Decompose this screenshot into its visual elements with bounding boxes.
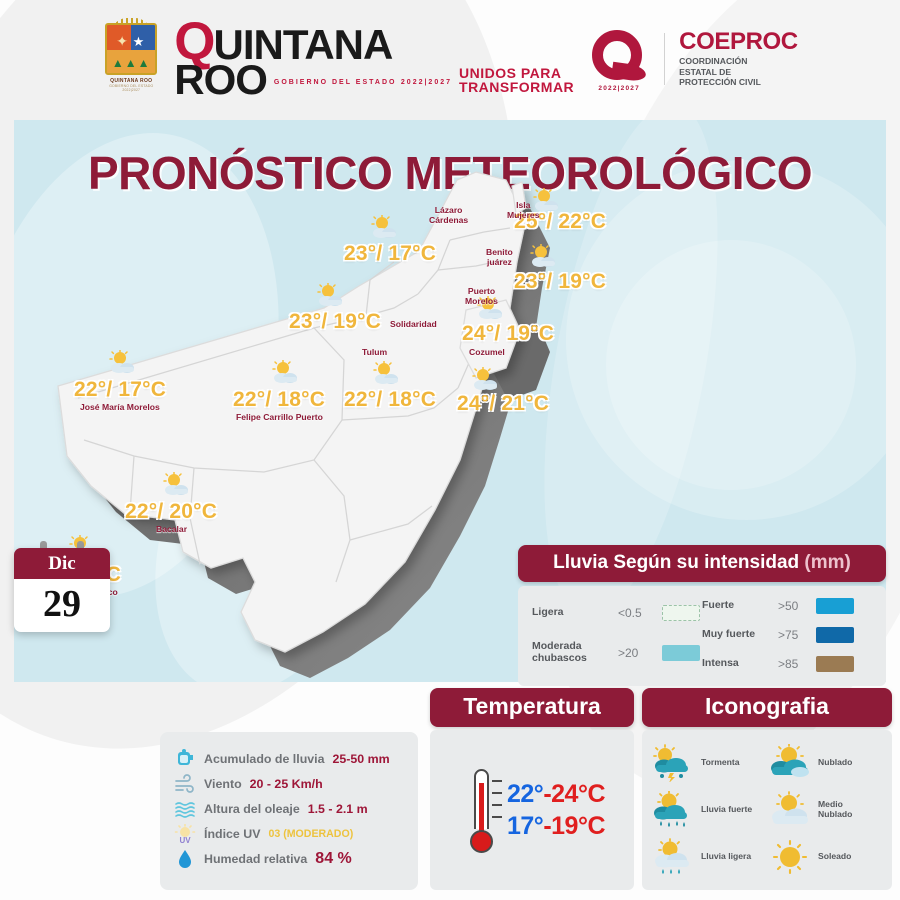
header-divider: [664, 33, 665, 85]
temp-benito-juarez: 23°/ 19°C: [514, 270, 606, 294]
waves-icon: [174, 799, 196, 819]
coeproc-sub-line3: PROTECCIÓN CIVIL: [679, 77, 761, 87]
city-label-tulum: Tulum: [362, 348, 387, 358]
temperatura-title: Temperatura: [430, 688, 634, 727]
weather-icon-medio-nublado: [469, 367, 503, 391]
city-label-benito-juarez: Benitojuárez: [486, 248, 513, 267]
temp-cozumel: 24°/ 21°C: [457, 392, 549, 416]
stat-label-viento: Viento: [204, 777, 242, 791]
coeproc-text-block: COEPROC COORDINACIÓN ESTATAL DE PROTECCI…: [679, 30, 798, 88]
iconografia-item-tormenta: Tormenta: [650, 744, 767, 782]
lluvia-ligera-icon: [650, 838, 696, 876]
iconografia-label-tormenta: Tormenta: [701, 758, 740, 768]
temperatura-min-low: 17°: [507, 812, 543, 840]
rain-value-intensa: >85: [778, 657, 816, 671]
soleado-icon: [767, 838, 813, 876]
coeproc-sub-line2: ESTATAL DE: [679, 67, 731, 77]
rain-value-muy-fuerte: >75: [778, 628, 816, 642]
brand-slogan-line2: TRANSFORMAR: [459, 79, 574, 95]
rain-value-ligera: <0.5: [618, 606, 662, 620]
uv-sun-icon: UV: [174, 824, 196, 844]
iconografia-label-nublado: Nublado: [818, 758, 852, 768]
weather-icon-medio-nublado: [160, 472, 194, 496]
stat-value-humedad: 84 %: [315, 850, 351, 868]
brand-years: 2022|2027: [401, 79, 452, 86]
date-calendar: Dic 29: [14, 548, 110, 632]
temp-lazaro-cardenas: 23°/ 17°C: [344, 242, 436, 266]
rain-value-fuerte: >50: [778, 599, 816, 613]
weather-icon-medio-nublado: [370, 361, 404, 385]
city-label-solidaridad: Solidaridad: [390, 320, 437, 330]
stat-label-oleaje: Altura del oleaje: [204, 802, 300, 816]
rain-label-fuerte: Fuerte: [702, 600, 778, 612]
city-label-lazaro-cardenas: LázaroCárdenas: [429, 206, 468, 225]
temperatura-min-high: 19°C: [551, 812, 605, 840]
rain-legend-row: Fuerte >50: [702, 598, 872, 614]
rain-swatch-intensa: [816, 656, 854, 672]
rain-label-ligera: Ligera: [532, 607, 618, 619]
temp-felipe-carrillo-puerto: 22°/ 18°C: [233, 388, 325, 412]
rain-label-moderada: Moderadachubascos: [532, 641, 618, 665]
medio-nublado-icon: [767, 791, 813, 829]
coeproc-mark-years: 2022|2027: [588, 85, 650, 92]
city-label-puerto-morelos: PuertoMorelos: [465, 287, 498, 306]
rain-legend-row: Ligera <0.5: [532, 605, 702, 621]
stat-label-acumulado: Acumulado de lluvia: [204, 752, 325, 766]
city-label-isla-mujeres: IslaMujeres: [507, 201, 539, 220]
temperatura-max-low: 22°: [507, 780, 543, 808]
quintana-roo-wordmark: Q UINTANA ROO GOBIERNO DEL ESTADO 2022|2…: [174, 19, 574, 99]
rain-legend-unit: (mm): [804, 552, 850, 573]
quintana-roo-coat-of-arms-icon: ✦ ★ ▲▲▲ QUINTANA ROO GOBIERNO DEL ESTADO…: [102, 23, 160, 95]
water-drop-icon: [174, 849, 196, 869]
stat-row-viento: Viento 20 - 25 Km/h: [174, 771, 408, 796]
rain-legend-row: Moderadachubascos >20: [532, 641, 702, 665]
rain-value-moderada: >20: [618, 646, 662, 660]
temp-tulum: 22°/ 18°C: [344, 388, 436, 412]
rain-legend-header: Lluvia Según su intensidad (mm): [518, 545, 886, 582]
iconografia-item-lluvia-fuerte: Lluvia fuerte: [650, 791, 767, 829]
weather-icon-medio-nublado: [269, 360, 303, 384]
iconografia-label-soleado: Soleado: [818, 852, 851, 862]
rain-swatch-ligera: [662, 605, 700, 621]
tormenta-icon: [650, 744, 696, 782]
rain-gauge-icon: [174, 749, 196, 769]
temperatura-max-high: 24°C: [551, 780, 605, 808]
coeproc-sub-line1: COORDINACIÓN: [679, 56, 747, 66]
lluvia-fuerte-icon: [650, 791, 696, 829]
wind-icon: [174, 774, 196, 794]
temperatura-min-sep: -: [543, 812, 551, 840]
coat-of-arms-sublabel: GOBIERNO DEL ESTADO 2022|2027: [102, 84, 160, 92]
city-label-bacalar: Bacalar: [156, 525, 187, 535]
thermometer-icon: [465, 767, 499, 853]
temperatura-min-row: 17°-19°C: [507, 810, 605, 842]
temperatura-max-row: 22°-24°C: [507, 778, 605, 810]
iconografia-item-lluvia-ligera: Lluvia ligera: [650, 838, 767, 876]
temp-solidaridad: 23°/ 19°C: [289, 310, 381, 334]
brand-years-small: GOBIERNO DEL ESTADO: [274, 79, 397, 86]
iconografia-label-lluvia-fuerte: Lluvia fuerte: [701, 805, 752, 815]
city-label-felipe-carrillo-puerto: Felipe Carrillo Puerto: [236, 413, 323, 423]
rain-swatch-fuerte: [816, 598, 854, 614]
iconografia-item-medio-nublado: MedioNublado: [767, 791, 884, 829]
temp-puerto-morelos: 24°/ 19°C: [462, 322, 554, 346]
coeproc-q-mark-icon: 2022|2027: [588, 28, 650, 90]
temp-jose-maria-morelos: 22°/ 17°C: [74, 378, 166, 402]
stat-value-viento: 20 - 25 Km/h: [250, 777, 323, 791]
temperatura-max-sep: -: [543, 780, 551, 808]
weather-icon-medio-nublado: [368, 215, 402, 239]
stat-row-oleaje: Altura del oleaje 1.5 - 2.1 m: [174, 796, 408, 821]
svg-text:UV: UV: [179, 836, 191, 844]
rain-legend-row: Intensa >85: [702, 656, 872, 672]
temperatura-panel: Temperatura 22°-24°C 17°-19°C: [430, 688, 634, 890]
stat-row-humedad: Humedad relativa 84 %: [174, 846, 408, 871]
calendar-month: Dic: [14, 548, 110, 579]
rain-label-intensa: Intensa: [702, 658, 778, 670]
infographic-root: ✦ ★ ▲▲▲ QUINTANA ROO GOBIERNO DEL ESTADO…: [0, 0, 900, 900]
conditions-summary-panel: Acumulado de lluvia 25-50 mm Viento 20 -…: [160, 732, 418, 890]
iconografia-label-medio-nublado: MedioNublado: [818, 800, 852, 820]
iconografia-item-soleado: Soleado: [767, 838, 884, 876]
brand-roo-text: ROO: [174, 61, 267, 99]
stat-value-oleaje: 1.5 - 2.1 m: [308, 802, 368, 816]
stat-row-acumulado: Acumulado de lluvia 25-50 mm: [174, 746, 408, 771]
stat-row-uv: UV Índice UV 03 (MODERADO): [174, 821, 408, 846]
iconografia-panel: Iconografia Tormenta: [642, 688, 892, 890]
rain-label-muy-fuerte: Muy fuerte: [702, 629, 778, 641]
city-label-cozumel: Cozumel: [469, 348, 505, 358]
iconografia-item-nublado: Nublado: [767, 744, 884, 782]
header-logos: ✦ ★ ▲▲▲ QUINTANA ROO GOBIERNO DEL ESTADO…: [0, 0, 900, 118]
calendar-day: 29: [14, 579, 110, 632]
temp-bacalar: 22°/ 20°C: [125, 500, 217, 524]
coeproc-title: COEPROC: [679, 30, 798, 54]
rain-intensity-legend: Lluvia Según su intensidad (mm) Ligera <…: [518, 545, 886, 686]
city-label-jose-maria-morelos: José María Morelos: [80, 403, 160, 413]
rain-legend-row: Muy fuerte >75: [702, 627, 872, 643]
stat-value-acumulado: 25-50 mm: [333, 752, 390, 766]
stat-label-uv: Índice UV: [204, 827, 260, 841]
iconografia-title: Iconografia: [642, 688, 892, 727]
stat-value-uv: 03 (MODERADO): [268, 828, 353, 840]
iconografia-label-lluvia-ligera: Lluvia ligera: [701, 852, 751, 862]
rain-legend-title: Lluvia Según su intensidad: [553, 552, 799, 573]
rain-swatch-moderada: [662, 645, 700, 661]
weather-icon-medio-nublado: [527, 244, 561, 268]
rain-swatch-muy-fuerte: [816, 627, 854, 643]
weather-icon-medio-nublado: [314, 283, 348, 307]
nublado-icon: [767, 744, 813, 782]
stat-label-humedad: Humedad relativa: [204, 852, 307, 866]
weather-icon-medio-nublado: [106, 350, 140, 374]
